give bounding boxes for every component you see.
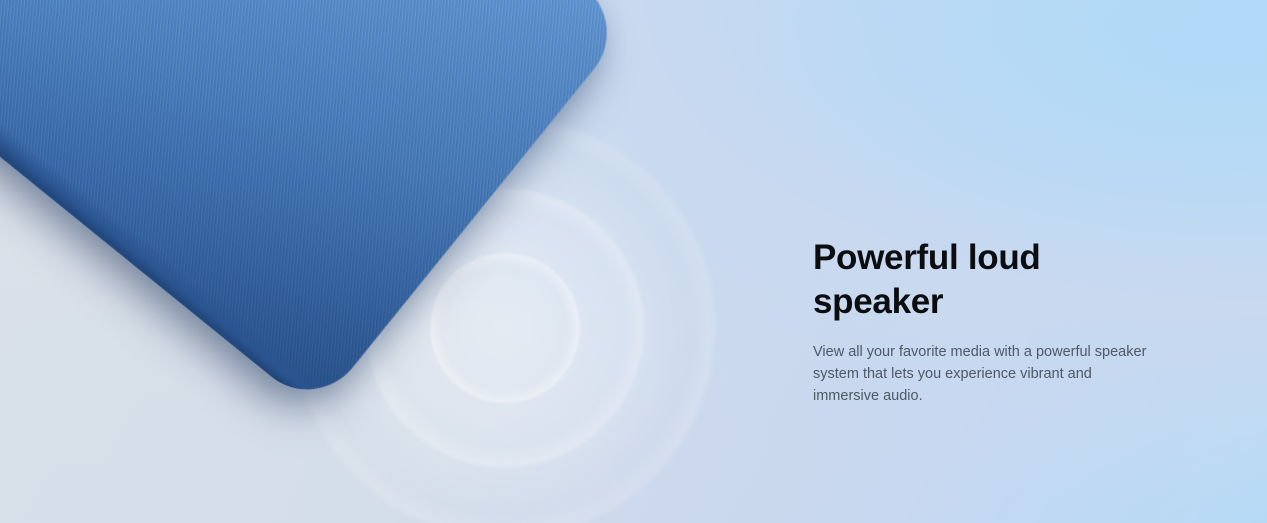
device-rear-panel — [0, 0, 631, 413]
feature-headline: Powerful loud speaker — [813, 236, 1083, 324]
feature-copy-block: Powerful loud speaker View all your favo… — [813, 236, 1158, 407]
product-feature-banner: Powerful loud speaker View all your favo… — [0, 0, 1267, 523]
sound-wave-ring-1 — [430, 253, 580, 403]
feature-body-text: View all your favorite media with a powe… — [813, 341, 1148, 407]
smartphone-image — [0, 0, 631, 413]
